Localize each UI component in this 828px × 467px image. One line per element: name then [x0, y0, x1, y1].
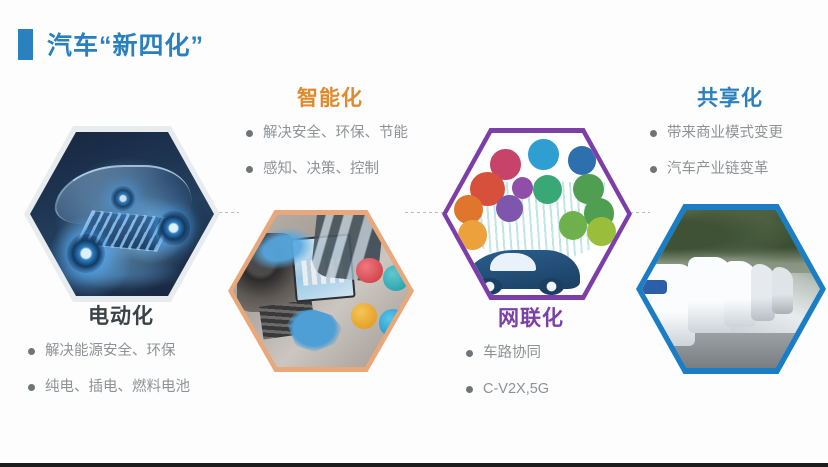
pillar-intelligence-title: 智能化: [246, 82, 414, 112]
ev-chassis-photo: [30, 132, 214, 296]
road-surface: [642, 333, 820, 368]
cockpit-button-yellow: [351, 303, 377, 329]
list-item-label: 带来商业模式变更: [667, 124, 783, 144]
shared-car-blue-trim: [642, 280, 667, 294]
service-node-icon: [458, 220, 487, 249]
pillar-sharing-title: 共享化: [650, 82, 810, 112]
connector-intelligence-to-connectivity: [405, 212, 449, 213]
ev-glow: [45, 260, 192, 290]
bullet-dot-icon: [650, 166, 657, 173]
hexagon-electrification-inner: [30, 132, 214, 296]
bullet-dot-icon: [28, 384, 35, 391]
list-item-label: C-V2X,5G: [483, 380, 549, 400]
intelligent-cockpit-photo: [233, 215, 409, 367]
list-item: 解决安全、环保、节能: [246, 124, 414, 144]
cockpit-button-red: [356, 258, 382, 284]
list-item: 车路协同: [466, 344, 596, 364]
shared-cars-photo: [642, 210, 820, 368]
connected-car-wheel: [477, 278, 502, 295]
ev-wheel-rear: [157, 211, 190, 245]
service-node-icon: [587, 217, 616, 246]
ev-wheel-far: [111, 186, 135, 211]
connected-car-infographic: [447, 133, 627, 295]
service-node-icon: [559, 211, 588, 240]
list-item-label: 纯电、插电、燃料电池: [45, 378, 190, 398]
title-marker: [18, 29, 33, 60]
hexagon-intelligence: [228, 210, 414, 372]
pillar-intelligence-bullets: 解决安全、环保、节能 感知、决策、控制: [246, 124, 414, 179]
photo-frame-bottom-edge: [0, 463, 828, 467]
bullet-dot-icon: [650, 130, 657, 137]
page-title: 汽车“新四化”: [18, 26, 204, 62]
list-item-label: 汽车产业链变革: [667, 160, 769, 180]
list-item: 感知、决策、控制: [246, 160, 414, 180]
list-item-label: 解决能源安全、环保: [45, 342, 176, 362]
hexagon-connectivity-inner: [447, 133, 627, 295]
ev-wheel-front: [67, 234, 106, 273]
connected-car-wheel: [539, 278, 564, 295]
pillar-connectivity-text: 网联化 车路协同 C-V2X,5G: [466, 302, 596, 415]
list-item: 汽车产业链变革: [650, 160, 810, 180]
list-item: C-V2X,5G: [466, 380, 596, 400]
hexagon-sharing: [636, 204, 826, 374]
pillar-intelligence-text: 智能化 解决安全、环保、节能 感知、决策、控制: [246, 82, 414, 195]
hexagon-sharing-inner: [642, 210, 820, 368]
pillar-connectivity-title: 网联化: [466, 302, 596, 332]
list-item-label: 解决安全、环保、节能: [263, 124, 408, 144]
pillar-electrification-text: 电动化 解决能源安全、环保 纯电、插电、燃料电池: [28, 300, 214, 413]
service-node-icon: [528, 139, 559, 170]
pillar-electrification-title: 电动化: [28, 300, 214, 330]
cockpit-button-teal: [383, 265, 409, 291]
hexagon-connectivity: [442, 128, 632, 300]
list-item: 解决能源安全、环保: [28, 342, 214, 362]
title-label: 汽车“新四化”: [47, 26, 204, 62]
bullet-dot-icon: [246, 166, 253, 173]
pillar-connectivity-bullets: 车路协同 C-V2X,5G: [466, 344, 596, 399]
list-item: 带来商业模式变更: [650, 124, 810, 144]
cockpit-button-blue: [379, 309, 407, 336]
service-node-icon: [496, 195, 523, 223]
list-item-label: 感知、决策、控制: [263, 160, 379, 180]
shared-car: [772, 267, 793, 314]
slide-canvas: 汽车“新四化”: [0, 0, 828, 467]
pillar-sharing-bullets: 带来商业模式变更 汽车产业链变革: [650, 124, 810, 179]
bullet-dot-icon: [28, 348, 35, 355]
hexagon-intelligence-inner: [233, 215, 409, 367]
pillar-sharing-text: 共享化 带来商业模式变更 汽车产业链变革: [650, 82, 810, 195]
bullet-dot-icon: [466, 350, 473, 357]
bullet-dot-icon: [466, 386, 473, 393]
pillar-electrification-bullets: 解决能源安全、环保 纯电、插电、燃料电池: [28, 342, 214, 397]
hexagon-electrification: [24, 126, 220, 302]
bullet-dot-icon: [246, 130, 253, 137]
service-node-icon: [454, 195, 483, 224]
list-item-label: 车路协同: [483, 344, 541, 364]
list-item: 纯电、插电、燃料电池: [28, 378, 214, 398]
